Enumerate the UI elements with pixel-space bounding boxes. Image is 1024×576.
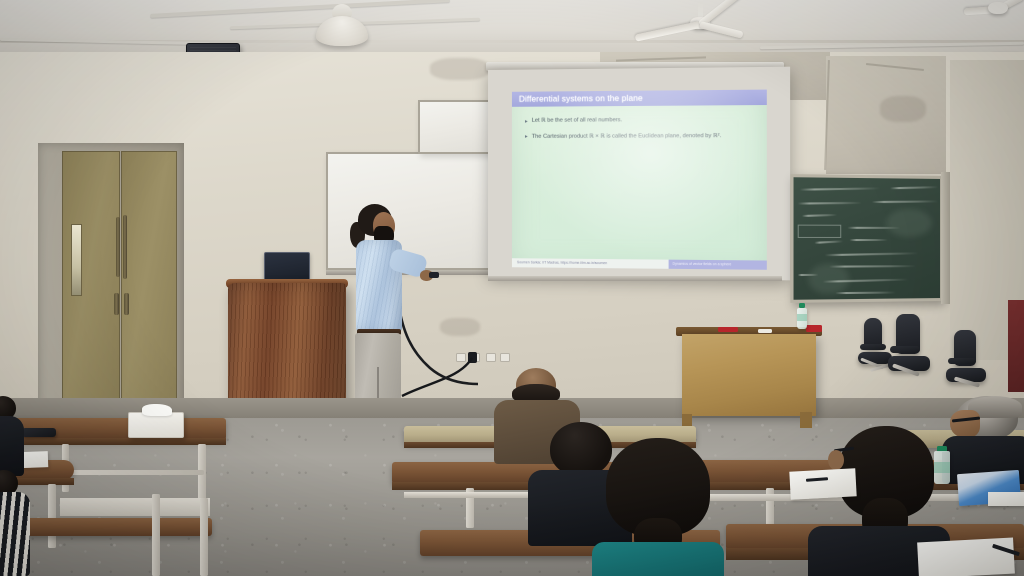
pendant-lamp-shade bbox=[316, 16, 368, 46]
notebook-front[interactable] bbox=[917, 538, 1015, 576]
chair-armrest bbox=[890, 346, 920, 353]
chalk-smudge bbox=[886, 209, 932, 237]
slide-title: Differential systems on the plane bbox=[512, 90, 767, 107]
slide-bullet-text: The Cartesian product ℝ × ℝ is called th… bbox=[532, 133, 721, 141]
projector-screen-weight-bar bbox=[488, 276, 782, 281]
bench-seat-panel-left bbox=[60, 498, 210, 516]
fan-blade bbox=[635, 21, 701, 42]
slide-footer-title: Dynamics of vector fields on a sphere bbox=[668, 260, 766, 270]
attendee-torso bbox=[592, 542, 724, 576]
slide-footer-author: Soumen Sarkar, IIT Madras, https://home.… bbox=[512, 258, 668, 269]
tissue-sheet bbox=[142, 404, 172, 416]
door-leaf-right[interactable] bbox=[121, 151, 177, 423]
water-bottle-audience[interactable] bbox=[934, 446, 950, 484]
door-leaf-left[interactable] bbox=[62, 151, 120, 423]
door-glass-panel bbox=[71, 224, 82, 296]
front-desk-leg bbox=[800, 412, 812, 428]
bullet-marker-icon: ▸ bbox=[525, 118, 528, 125]
slide-bullet-text: Let ℝ be the set of all real numbers. bbox=[532, 117, 622, 125]
attendee-foreground-teal bbox=[596, 438, 730, 576]
attendee-left-lower bbox=[0, 470, 42, 576]
podium-monitor bbox=[264, 252, 310, 282]
bench-leg bbox=[198, 444, 206, 506]
projection-screen: Differential systems on the plane ▸ Let … bbox=[488, 67, 790, 281]
lecture-hall-screenshot: Differential systems on the plane ▸ Let … bbox=[0, 0, 1024, 576]
slide-bullet: ▸ The Cartesian product ℝ × ℝ is called … bbox=[525, 132, 758, 141]
slide-body: ▸ Let ℝ be the set of all real numbers. … bbox=[525, 116, 758, 149]
bench-leg bbox=[200, 498, 208, 576]
chalk-writing bbox=[825, 252, 918, 256]
ceiling-fan-right bbox=[640, 2, 760, 42]
bench-leg bbox=[152, 494, 160, 576]
red-box[interactable] bbox=[806, 325, 822, 332]
door-handle-right[interactable] bbox=[123, 215, 127, 279]
chalk-smudge bbox=[808, 263, 849, 294]
bottle-label bbox=[934, 462, 950, 473]
paper-right-edge[interactable] bbox=[988, 492, 1024, 506]
ceiling-fan-far-right bbox=[968, 0, 1024, 24]
attendee-torso bbox=[0, 416, 24, 476]
chair-armrest bbox=[948, 358, 976, 364]
pendant-lamp bbox=[314, 4, 370, 44]
door-handle-left[interactable] bbox=[116, 217, 120, 277]
bench-leg bbox=[48, 484, 56, 548]
chalk-writing bbox=[802, 214, 837, 217]
attendee-face-profile bbox=[950, 410, 980, 438]
slide-bullet: ▸ Let ℝ be the set of all real numbers. bbox=[525, 116, 758, 125]
notebook-right[interactable] bbox=[789, 468, 856, 499]
wall-socket-4[interactable] bbox=[500, 353, 510, 362]
projected-slide: Differential systems on the plane ▸ Let … bbox=[512, 90, 767, 270]
door-pull-left[interactable] bbox=[114, 293, 119, 315]
presentation-clicker[interactable] bbox=[429, 272, 439, 278]
chalk-writing bbox=[872, 200, 938, 202]
green-water-bottle[interactable] bbox=[797, 303, 807, 329]
chalk-writing bbox=[798, 202, 862, 204]
attendee-grey-hair-right bbox=[942, 396, 1024, 482]
chalk-writing bbox=[800, 187, 880, 190]
chalk-writing bbox=[890, 186, 938, 189]
bench-cross-brace bbox=[62, 470, 204, 475]
red-marker[interactable] bbox=[718, 327, 738, 332]
white-marker[interactable] bbox=[758, 329, 772, 333]
bottle-label bbox=[797, 314, 807, 321]
chair-armrest bbox=[860, 344, 886, 350]
wall-stain-1 bbox=[430, 58, 490, 80]
wall-stain-2 bbox=[880, 96, 926, 122]
chalk-writing bbox=[849, 239, 888, 241]
door-pull-right[interactable] bbox=[124, 293, 129, 315]
entrance-door[interactable] bbox=[38, 143, 184, 425]
slide-footer: Soumen Sarkar, IIT Madras, https://home.… bbox=[512, 258, 767, 270]
chalk-boxed-formula bbox=[798, 225, 842, 238]
red-wall-strip bbox=[1008, 300, 1024, 392]
bullet-marker-icon: ▸ bbox=[525, 134, 528, 141]
chalk-writing bbox=[835, 291, 896, 293]
attendee-striped-torso bbox=[0, 492, 30, 576]
ceiling bbox=[0, 0, 1024, 58]
bench-seat-left bbox=[26, 518, 212, 536]
chalk-writing bbox=[814, 240, 843, 243]
fan-hub bbox=[988, 2, 1008, 14]
fan-blade bbox=[699, 21, 743, 38]
board-side-frame bbox=[941, 172, 950, 304]
attendee-ear-area bbox=[828, 450, 844, 470]
front-desk bbox=[682, 334, 816, 416]
chalkboard bbox=[790, 174, 943, 303]
